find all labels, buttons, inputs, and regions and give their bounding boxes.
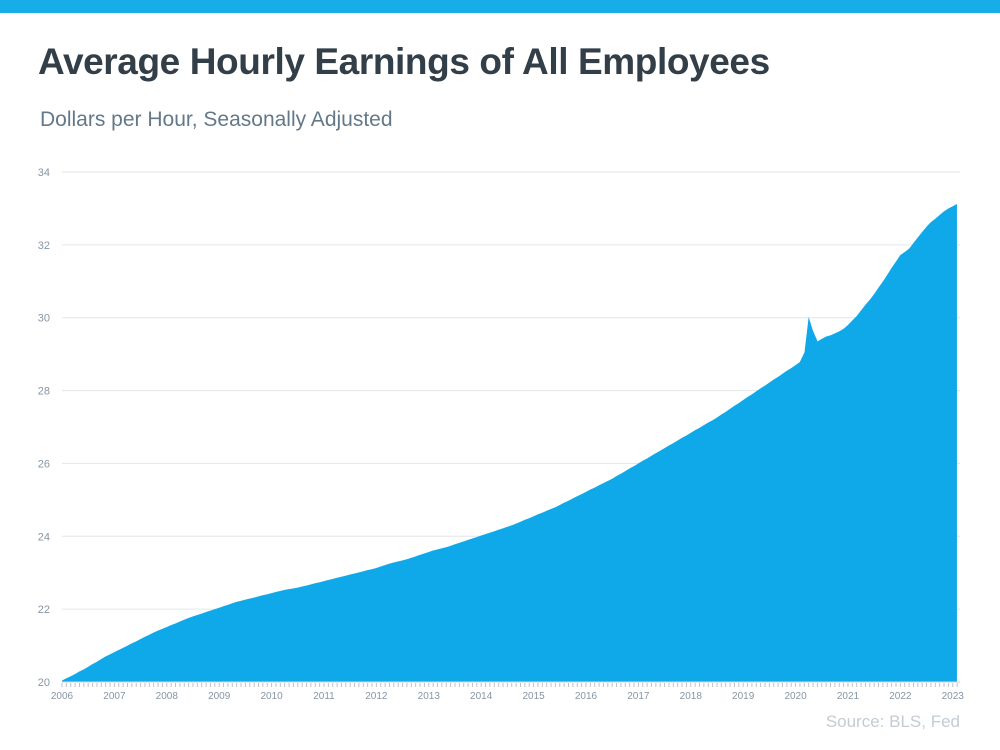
y-tick-label-28: 28 bbox=[38, 386, 50, 398]
x-tick-label-2016: 2016 bbox=[575, 691, 598, 702]
x-tick-label-2009: 2009 bbox=[208, 691, 231, 702]
area-series-group bbox=[62, 204, 957, 682]
x-tick-label-2020: 2020 bbox=[784, 691, 807, 702]
y-tick-label-24: 24 bbox=[38, 531, 50, 543]
y-tick-label-26: 26 bbox=[38, 458, 50, 470]
y-tick-label-30: 30 bbox=[38, 313, 50, 325]
source-attribution: Source: BLS, Fed bbox=[826, 712, 960, 732]
y-tick-label-22: 22 bbox=[38, 604, 50, 616]
y-tick-label-20: 20 bbox=[38, 677, 50, 689]
x-tick-label-2022: 2022 bbox=[889, 691, 912, 702]
x-axis-tick-labels: 2006200720082009201020112012201320142015… bbox=[51, 691, 964, 702]
x-tick-label-2007: 2007 bbox=[103, 691, 126, 702]
chart-plot-area: 2022242628303234 20062007200820092010201… bbox=[0, 0, 1000, 750]
x-tick-label-2008: 2008 bbox=[156, 691, 179, 702]
x-tick-label-2015: 2015 bbox=[522, 691, 545, 702]
x-tick-label-2018: 2018 bbox=[680, 691, 703, 702]
area-series-path bbox=[62, 204, 957, 682]
x-tick-label-2013: 2013 bbox=[418, 691, 441, 702]
x-tick-label-2010: 2010 bbox=[260, 691, 283, 702]
x-tick-label-2019: 2019 bbox=[732, 691, 755, 702]
x-tick-label-2023: 2023 bbox=[942, 691, 965, 702]
x-tick-label-2017: 2017 bbox=[627, 691, 650, 702]
x-tick-label-2021: 2021 bbox=[837, 691, 860, 702]
x-tick-label-2011: 2011 bbox=[313, 691, 335, 702]
y-tick-label-32: 32 bbox=[38, 240, 50, 252]
x-tick-label-2006: 2006 bbox=[51, 691, 74, 702]
axis-group bbox=[62, 682, 960, 687]
x-tick-label-2014: 2014 bbox=[470, 691, 493, 702]
y-axis-tick-labels: 2022242628303234 bbox=[38, 167, 50, 689]
area-chart-svg: 2022242628303234 20062007200820092010201… bbox=[0, 0, 1000, 750]
y-tick-label-34: 34 bbox=[38, 167, 50, 179]
chart-page: Average Hourly Earnings of All Employees… bbox=[0, 0, 1000, 750]
x-tick-label-2012: 2012 bbox=[365, 691, 388, 702]
